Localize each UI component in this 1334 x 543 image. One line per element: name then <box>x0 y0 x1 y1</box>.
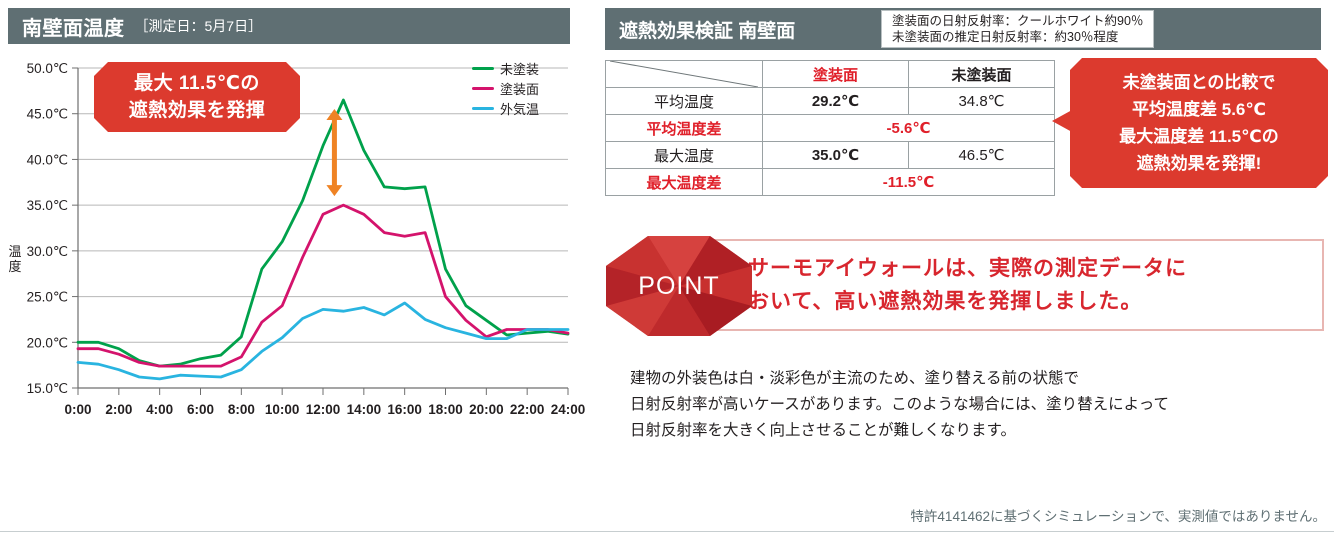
avg-temp-painted: 29.2℃ <box>763 88 909 115</box>
table-row: 平均温度差 -5.6℃ <box>606 115 1055 142</box>
svg-text:10:00: 10:00 <box>265 402 300 417</box>
right-title-bar: 遮熱効果検証 南壁面 塗装面の日射反射率：クールホワイト約90％ 未塗装面の推定… <box>605 8 1321 50</box>
avg-temp-unpainted: 34.8℃ <box>909 88 1055 115</box>
table-row: 平均温度 29.2℃ 34.8℃ <box>606 88 1055 115</box>
max-temp-difference: -11.5℃ <box>763 169 1055 196</box>
svg-text:2:00: 2:00 <box>105 402 132 417</box>
chart-legend: 未塗装 塗装面 外気温 <box>472 58 582 118</box>
right-title: 遮熱効果検証 南壁面 <box>605 16 877 43</box>
svg-text:20:00: 20:00 <box>469 402 504 417</box>
svg-text:25.0℃: 25.0℃ <box>27 290 68 305</box>
avg-temp-difference: -5.6℃ <box>763 115 1055 142</box>
svg-text:6:00: 6:00 <box>187 402 214 417</box>
table-row: 最大温度差 -11.5℃ <box>606 169 1055 196</box>
svg-text:4:00: 4:00 <box>146 402 173 417</box>
table-header-row: 塗装面 未塗装面 <box>606 61 1055 88</box>
svg-text:50.0℃: 50.0℃ <box>27 61 68 76</box>
chart-callout-line1: 最大 11.5℃の <box>94 70 300 97</box>
result-callout: 未塗装面との比較で 平均温度差 5.6℃ 最大温度差 11.5℃の 遮熱効果を発… <box>1070 58 1328 188</box>
point-message-box: サーモアイウォールは、実際の測定データに おいて、高い遮熱効果を発揮しました。 <box>684 239 1324 331</box>
measurement-date: ［測定日：5月7日］ <box>135 16 263 36</box>
legend-label-unpainted: 未塗装 <box>500 59 539 78</box>
row-label-avg-temp: 平均温度 <box>606 88 763 115</box>
table-col-unpainted: 未塗装面 <box>909 61 1055 88</box>
page-root: 南壁面温度 ［測定日：5月7日］ 温度 50.0℃45.0℃40.0℃35.0℃… <box>0 0 1334 543</box>
footer-divider <box>0 531 1334 532</box>
chart-callout-badge: 最大 11.5℃の 遮熱効果を発揮 <box>94 62 300 132</box>
body-line2: 日射反射率が高いケースがあります。このような場合には、塗り替えによって <box>630 392 1330 418</box>
reflectance-note-line2: 未塗装面の推定日射反射率：約30％程度 <box>892 29 1143 45</box>
legend-label-outside: 外気温 <box>500 99 539 118</box>
table-col-painted: 塗装面 <box>763 61 909 88</box>
point-message-line2: おいて、高い遮熱効果を発揮しました。 <box>748 285 1322 318</box>
row-label-avg-diff: 平均温度差 <box>606 115 763 142</box>
max-temp-unpainted: 46.5℃ <box>909 142 1055 169</box>
result-callout-line2: 平均温度差 5.6℃ <box>1070 96 1328 123</box>
legend-swatch-painted <box>472 87 494 90</box>
result-callout-line1: 未塗装面との比較で <box>1070 69 1328 96</box>
svg-text:40.0℃: 40.0℃ <box>27 152 68 167</box>
chart-callout-line2: 遮熱効果を発揮 <box>94 97 300 124</box>
svg-text:15.0℃: 15.0℃ <box>27 381 68 396</box>
explanatory-text: 建物の外装色は白・淡彩色が主流のため、塗り替える前の状態で 日射反射率が高いケー… <box>630 366 1330 444</box>
reflectance-note-line1: 塗装面の日射反射率：クールホワイト約90％ <box>892 13 1143 29</box>
legend-item-unpainted: 未塗装 <box>472 58 582 78</box>
legend-item-outside: 外気温 <box>472 98 582 118</box>
svg-text:18:00: 18:00 <box>428 402 463 417</box>
reflectance-note: 塗装面の日射反射率：クールホワイト約90％ 未塗装面の推定日射反射率：約30％程… <box>881 10 1154 48</box>
left-title-bar: 南壁面温度 ［測定日：5月7日］ <box>8 8 570 44</box>
svg-text:0:00: 0:00 <box>64 402 91 417</box>
page-title: 南壁面温度 <box>22 12 125 41</box>
svg-text:8:00: 8:00 <box>228 402 255 417</box>
svg-text:30.0℃: 30.0℃ <box>27 244 68 259</box>
svg-text:14:00: 14:00 <box>347 402 382 417</box>
svg-text:16:00: 16:00 <box>387 402 422 417</box>
diagonal-divider-icon <box>610 61 758 87</box>
svg-text:45.0℃: 45.0℃ <box>27 107 68 122</box>
callout-pointer-icon <box>1052 110 1072 132</box>
footer-note: 特許4141462に基づくシミュレーションで、実測値ではありません。 <box>0 505 1334 525</box>
point-gem: POINT <box>604 234 754 338</box>
svg-text:24:00: 24:00 <box>551 402 586 417</box>
temperature-chart: 温度 50.0℃45.0℃40.0℃35.0℃30.0℃25.0℃20.0℃15… <box>0 48 586 438</box>
result-callout-line4: 遮熱効果を発揮! <box>1070 150 1328 177</box>
point-badge-label: POINT <box>604 234 754 338</box>
result-callout-line3: 最大温度差 11.5℃の <box>1070 123 1328 150</box>
body-line1: 建物の外装色は白・淡彩色が主流のため、塗り替える前の状態で <box>630 366 1330 392</box>
table-row: 最大温度 35.0℃ 46.5℃ <box>606 142 1055 169</box>
point-section: サーモアイウォールは、実際の測定データに おいて、高い遮熱効果を発揮しました。 <box>604 234 1330 338</box>
svg-text:20.0℃: 20.0℃ <box>27 335 68 350</box>
legend-item-painted: 塗装面 <box>472 78 582 98</box>
svg-text:35.0℃: 35.0℃ <box>27 198 68 213</box>
left-panel: 南壁面温度 ［測定日：5月7日］ 温度 50.0℃45.0℃40.0℃35.0℃… <box>0 0 586 470</box>
legend-label-painted: 塗装面 <box>500 79 539 98</box>
point-message-line1: サーモアイウォールは、実際の測定データに <box>748 252 1322 285</box>
legend-swatch-outside <box>472 107 494 110</box>
comparison-table: 塗装面 未塗装面 平均温度 29.2℃ 34.8℃ 平均温度差 -5.6℃ 最大… <box>605 60 1055 196</box>
row-label-max-temp: 最大温度 <box>606 142 763 169</box>
body-line3: 日射反射率を大きく向上させることが難しくなります。 <box>630 418 1330 444</box>
max-temp-painted: 35.0℃ <box>763 142 909 169</box>
row-label-max-diff: 最大温度差 <box>606 169 763 196</box>
svg-text:12:00: 12:00 <box>306 402 341 417</box>
table-corner-cell <box>606 61 763 88</box>
legend-swatch-unpainted <box>472 67 494 70</box>
svg-text:22:00: 22:00 <box>510 402 545 417</box>
